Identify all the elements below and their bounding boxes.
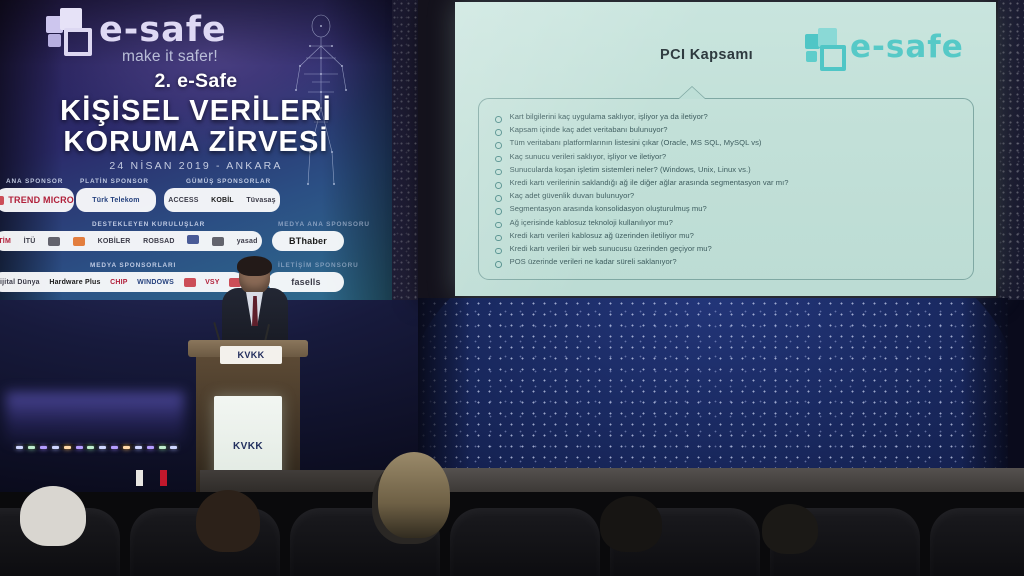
- sponsor-logo-chip: CHIP: [110, 279, 128, 286]
- list-item: Kapsam içinde kaç adet veritabanı bulunu…: [495, 125, 945, 136]
- list-item: Sunucularda koşan işletim sistemleri nel…: [495, 165, 945, 176]
- bullet-circle-icon: [495, 142, 502, 149]
- screenshot-root: e-safe make it safer! 2. e-Safe KİŞİSEL …: [0, 0, 1024, 576]
- bullet-text: Segmentasyon arasında konsolidasyon oluş…: [510, 204, 707, 214]
- event-banner: e-safe make it safer! 2. e-Safe KİŞİSEL …: [0, 0, 392, 300]
- audience-seating: [0, 492, 1024, 576]
- sponsor-logo-itu: İTÜ: [24, 238, 36, 245]
- bullet-text: Kapsam içinde kaç adet veritabanı bulunu…: [510, 125, 668, 135]
- banner-tagline: make it safer!: [122, 48, 218, 66]
- seat-back: [930, 508, 1024, 576]
- event-prefix: 2. e-Safe: [0, 70, 392, 93]
- speaker-hair: [237, 256, 272, 276]
- sponsor-logo-hardwareplus: Hardware Plus: [49, 279, 100, 286]
- bullet-circle-icon: [495, 195, 502, 202]
- sponsor-caption-iletisim: İLETİŞİM SPONSORU: [278, 262, 359, 269]
- sponsor-logo-oys-mark: [73, 237, 85, 246]
- sponsor-logo-tim: TİM: [0, 238, 11, 245]
- sponsor-logo-m-mark: [184, 278, 196, 287]
- sponsor-caption-platin: PLATİN SPONSOR: [80, 178, 149, 185]
- table-flags: [136, 470, 182, 494]
- sponsor-caption-medya-ana: MEDYA ANA SPONSORU: [278, 221, 370, 228]
- bullet-circle-icon: [495, 156, 502, 163]
- podium-plate-label: KVKK: [237, 350, 264, 360]
- esafe-squares-icon: [805, 28, 843, 66]
- bullet-circle-icon: [495, 129, 502, 136]
- sponsor-box-medya-ana: BThaber: [272, 231, 344, 251]
- list-item: Kart bilgilerini kaç uygulama saklıyor, …: [495, 112, 945, 123]
- sponsor-logo-turktelekom: Türk Telekom: [92, 197, 139, 204]
- bullet-text: Ağ içerisinde kablosuz teknoloji kullanı…: [510, 218, 673, 228]
- sponsor-logo-mark: [0, 196, 4, 205]
- bullet-text: Sunucularda koşan işletim sistemleri nel…: [510, 165, 751, 175]
- bullet-text: POS üzerinde verileri ne kadar süreli sa…: [510, 257, 677, 267]
- bullet-circle-icon: [495, 248, 502, 255]
- banner-esafe-logo: e-safe: [46, 8, 227, 52]
- sponsor-logo-bthaber: BThaber: [289, 236, 327, 246]
- podium-display-label: KVKK: [233, 441, 263, 452]
- sponsor-logo-yasad: yasad: [237, 238, 258, 245]
- bullet-circle-icon: [495, 182, 502, 189]
- flag-white: [136, 470, 143, 486]
- sponsor-logo-ted-mark: [48, 237, 60, 246]
- seat-back: [450, 508, 600, 576]
- bullet-text: Kart bilgilerini kaç uygulama saklıyor, …: [510, 112, 708, 122]
- sponsor-box-destekleyen: TİM İTÜ KOBİLER ROBSAD yasad: [0, 231, 262, 251]
- bullet-circle-icon: [495, 222, 502, 229]
- projected-slide: PCI Kapsamı e-safe Kart bilgilerini kaç …: [455, 2, 996, 296]
- sponsor-logo-access: ACCESS: [168, 197, 198, 204]
- bullet-text: Tüm veritabanı platformlarının listesini…: [510, 138, 762, 148]
- event-title-line2: KORUMA ZİRVESİ: [0, 126, 392, 159]
- sponsor-box-gumus: ACCESS KOBİL Tüvasaş: [164, 188, 280, 212]
- list-item: Kredi kartı verileri kablosuz ağ üzerind…: [495, 231, 945, 242]
- list-item: POS üzerinde verileri ne kadar süreli sa…: [495, 257, 945, 268]
- list-item: Segmentasyon arasında konsolidasyon oluş…: [495, 204, 945, 215]
- bullet-circle-icon: [495, 208, 502, 215]
- list-item: Kredi kartı verileri bir web sunucusu üz…: [495, 244, 945, 255]
- sponsor-caption-destekleyen: DESTEKLEYEN KURULUŞLAR: [92, 221, 205, 228]
- speech-bubble-notch-icon: [679, 87, 705, 99]
- sponsor-box-ana: TREND MICRO: [0, 188, 74, 212]
- sponsor-caption-gumus: GÜMÜŞ SPONSORLAR: [186, 178, 271, 185]
- sponsor-logo-windows: WINDOWS: [137, 279, 174, 286]
- list-item: Tüm veritabanı platformlarının listesini…: [495, 138, 945, 149]
- sponsor-logo-robsad: ROBSAD: [143, 238, 175, 245]
- sponsor-caption-medya: MEDYA SPONSORLARI: [90, 262, 176, 269]
- stage-light-glow: [6, 392, 184, 448]
- stage-led-bar: [14, 444, 180, 450]
- list-item: Kaç adet güvenlik duvarı bulunuyor?: [495, 191, 945, 202]
- bullet-circle-icon: [495, 261, 502, 268]
- flag-red: [160, 470, 167, 486]
- bullet-text: Kredi kartı verileri kablosuz ağ üzerind…: [510, 231, 694, 241]
- list-item: Kredi kartı verilerinin saklandığı ağ il…: [495, 178, 945, 189]
- sponsor-logo-trendmicro: TREND MICRO: [8, 195, 74, 205]
- banner-logo-wordmark: e-safe: [99, 13, 227, 48]
- bullet-circle-icon: [495, 235, 502, 242]
- bullet-text: Kredi kartı verileri bir web sunucusu üz…: [510, 244, 712, 254]
- bullet-text: Kaç sunucu verileri saklıyor, işliyor ve…: [510, 152, 667, 162]
- audience-head: [196, 490, 260, 552]
- slide-esafe-logo: e-safe: [805, 28, 964, 66]
- sponsor-logo-tuvasas: Tüvasaş: [246, 197, 275, 204]
- bullet-circle-icon: [495, 116, 502, 123]
- audience-head: [762, 504, 818, 554]
- esafe-squares-icon: [46, 8, 90, 52]
- bullet-circle-icon: [495, 169, 502, 176]
- sponsor-logo-kobiler: KOBİLER: [98, 238, 131, 245]
- podium-logo-plate: KVKK: [220, 346, 282, 364]
- sponsor-logo-kobil: KOBİL: [211, 197, 234, 204]
- bullet-text: Kredi kartı verilerinin saklandığı ağ il…: [510, 178, 789, 188]
- audience-head: [20, 486, 86, 546]
- sponsor-logo-dijitaldunya: Dijital Dünya: [0, 279, 40, 286]
- sponsor-caption-ana: ANA SPONSOR: [6, 178, 63, 185]
- list-item: Kaç sunucu verileri saklıyor, işliyor ve…: [495, 152, 945, 163]
- sponsor-logo-yokk-mark: [212, 237, 224, 246]
- audience-head: [600, 496, 662, 552]
- bullet-text: Kaç adet güvenlik duvarı bulunuyor?: [510, 191, 635, 201]
- sponsor-box-medya: Dijital Dünya Hardware Plus CHIP WINDOWS…: [0, 272, 244, 292]
- event-date: 24 NİSAN 2019 - ANKARA: [0, 160, 392, 172]
- event-title-line1: KİŞİSEL VERİLERİ: [0, 95, 392, 128]
- slide-title: PCI Kapsamı: [660, 47, 753, 63]
- audience-head-foreground: [378, 452, 450, 538]
- sponsor-box-platin: Türk Telekom: [76, 188, 156, 212]
- sponsor-logo-fasells: fasells: [291, 277, 320, 287]
- sponsor-logo-vsy: VSY: [205, 279, 220, 286]
- sponsor-logo-tse-mark: [187, 235, 199, 244]
- slide-logo-wordmark: e-safe: [850, 32, 964, 63]
- list-item: Ağ içerisinde kablosuz teknoloji kullanı…: [495, 218, 945, 229]
- slide-bullet-list: Kart bilgilerini kaç uygulama saklıyor, …: [495, 112, 945, 270]
